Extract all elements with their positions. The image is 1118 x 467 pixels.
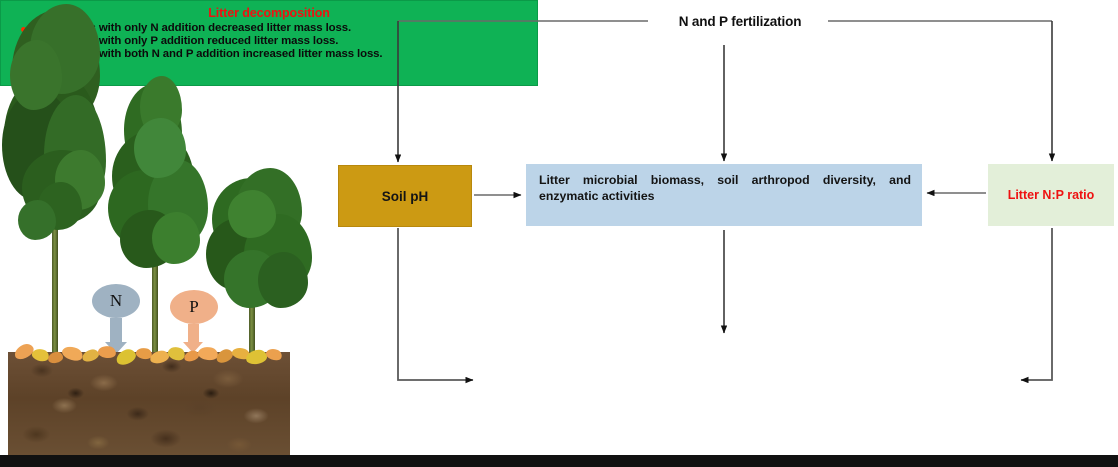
- node-soil-ph[interactable]: Soil pH: [338, 165, 472, 227]
- node-soil-ph-label: Soil pH: [339, 189, 471, 204]
- figure-root: N P: [0, 0, 1118, 467]
- footer-bar: [0, 455, 1118, 467]
- nitrogen-arrow-icon: [110, 318, 122, 344]
- forest-litter-soil-illustration: N P: [0, 0, 330, 455]
- node-litter-np-ratio-label: Litter N:P ratio: [989, 188, 1113, 202]
- phosphorus-label: P: [189, 297, 198, 317]
- node-microbial-biomass[interactable]: Litter microbial biomass, soil arthropod…: [526, 164, 922, 226]
- soil-block: [8, 352, 290, 455]
- nitrogen-label: N: [110, 291, 122, 311]
- soil-texture: [8, 352, 290, 455]
- nitrogen-addition-badge: N: [92, 284, 140, 318]
- diagram-title-n-and-p-fertilization: N and P fertilization: [660, 14, 820, 29]
- edge-np-ratio-to-decomposition: [1021, 228, 1052, 380]
- node-litter-np-ratio[interactable]: Litter N:P ratio: [988, 164, 1114, 226]
- phosphorus-arrow-icon: [188, 324, 199, 344]
- phosphorus-addition-badge: P: [170, 290, 218, 324]
- node-microbial-biomass-label: Litter microbial biomass, soil arthropod…: [539, 172, 911, 204]
- edge-soil-ph-to-decomposition: [398, 228, 473, 380]
